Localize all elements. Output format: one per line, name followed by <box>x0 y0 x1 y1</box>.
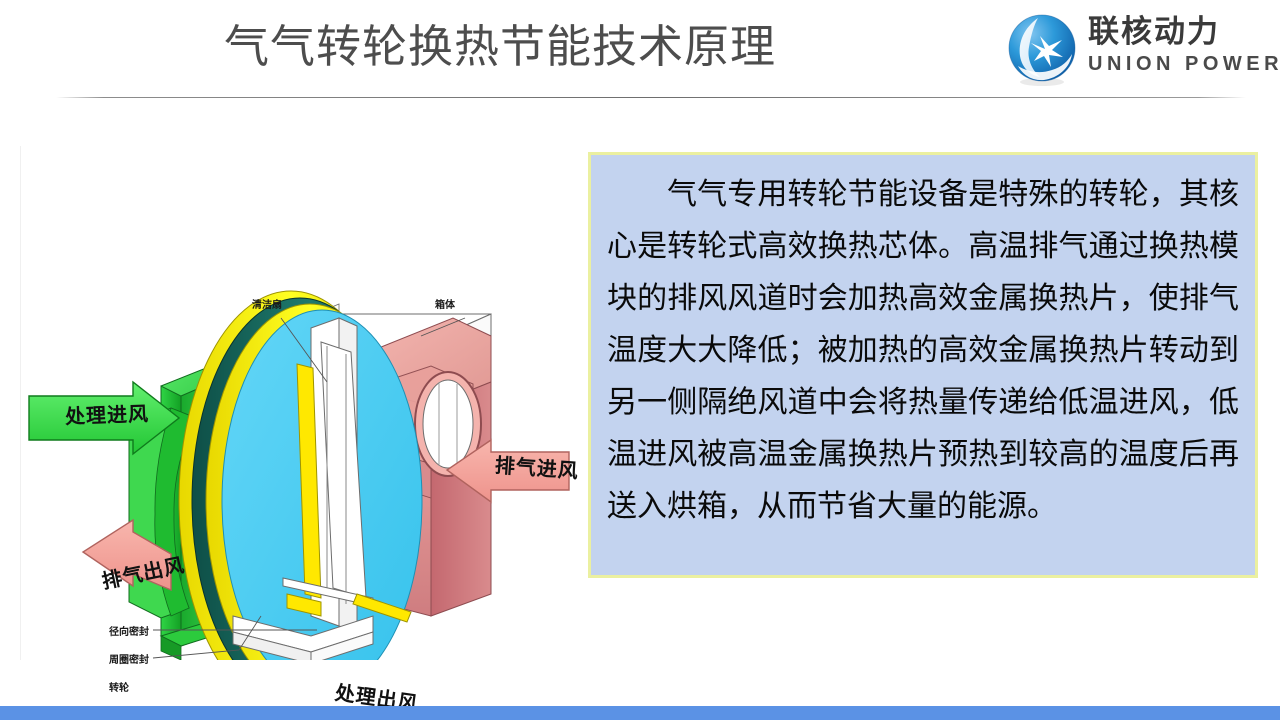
callout-label-clean-fan: 清洁扇 <box>252 300 282 312</box>
union-power-sphere-icon <box>1004 12 1080 88</box>
slide-root: 气气转轮换热节能技术原理 <box>0 0 1280 720</box>
logo-name-cn: 联核动力 <box>1088 14 1272 50</box>
logo-wordmark: 联核动力 UNION POWER <box>1088 14 1272 76</box>
slide-header: 气气转轮换热节能技术原理 <box>0 0 1280 100</box>
callout-label-rotor: 转轮 <box>109 683 129 695</box>
logo-name-en: UNION POWER <box>1088 52 1272 76</box>
description-panel: 气气专用转轮节能设备是特殊的转轮，其核心是转轮式高效换热芯体。高温排气通过换热模… <box>588 152 1258 578</box>
header-divider <box>56 97 1246 98</box>
footer-bar <box>0 706 1280 720</box>
callout-label-circumferential-seal: 周圈密封 <box>109 655 149 667</box>
arrow-label-process-air-in: 处理进风 <box>65 398 150 430</box>
callout-label-radial-seal: 径向密封 <box>109 627 149 639</box>
description-text: 气气专用转轮节能设备是特殊的转轮，其核心是转轮式高效换热芯体。高温排气通过换热模… <box>607 169 1239 533</box>
company-logo: 联核动力 UNION POWER <box>1004 8 1272 92</box>
page-title: 气气转轮换热节能技术原理 <box>0 16 1000 78</box>
callout-label-casing: 箱体 <box>435 300 455 312</box>
heat-exchanger-diagram: 清洁扇 箱体 径向密封 周圈密封 转轮 处理进风 排气进风 排气出风 处理出风 <box>20 146 577 660</box>
arrow-label-exhaust-air-in: 排气进风 <box>494 449 580 484</box>
